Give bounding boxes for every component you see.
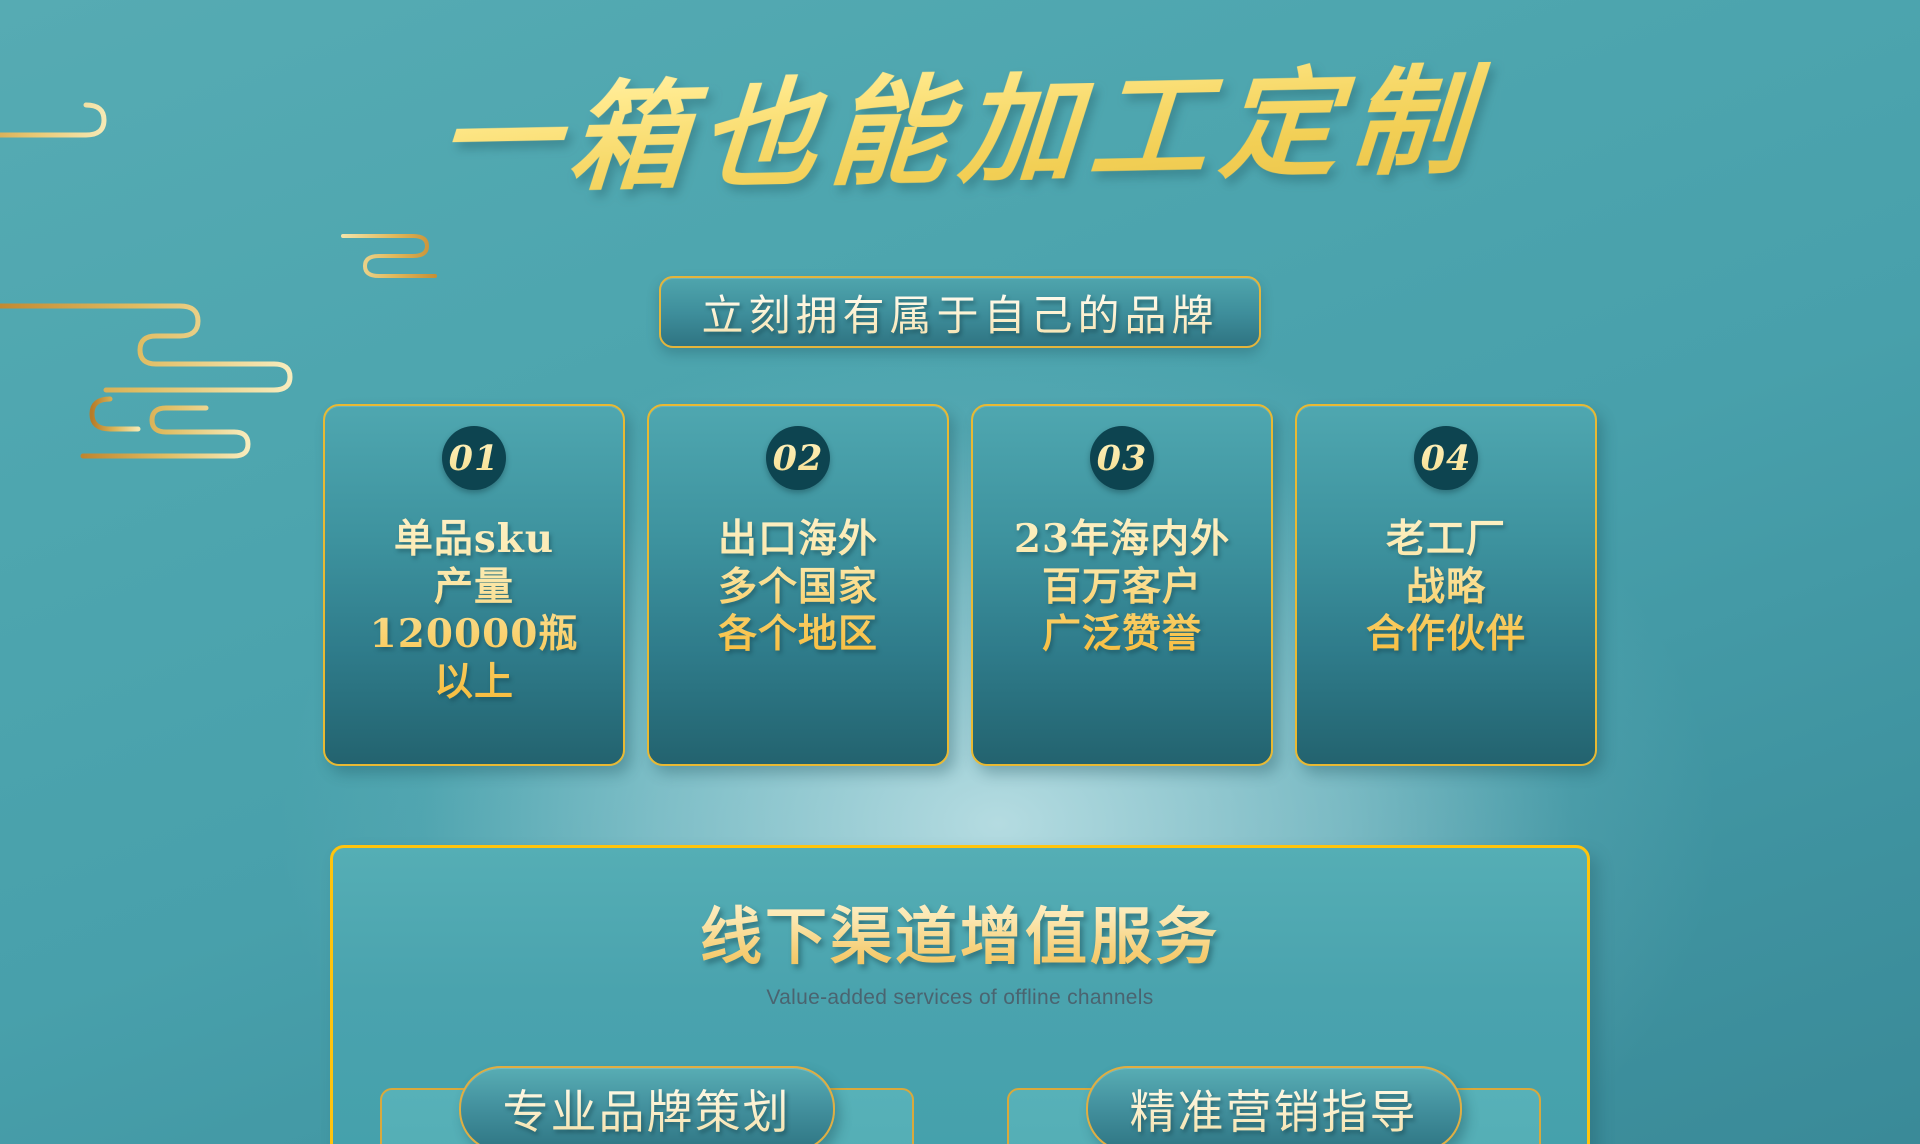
page-title: 一箱也能加工定制 <box>416 48 1504 215</box>
card-line: 多个国家 <box>718 564 878 612</box>
card-text-block: 出口海外 多个国家 各个地区 <box>718 516 878 659</box>
card-line: 老工厂 <box>1366 516 1526 564</box>
service-pill-label: 专业品牌策划 <box>503 1076 791 1142</box>
service-pill-button[interactable]: 专业品牌策划 <box>459 1066 835 1144</box>
panel-heading: 线下渠道增值服务 <box>333 886 1587 976</box>
feature-card[interactable]: 03 23年海内外 百万客户 广泛赞誉 <box>971 404 1273 766</box>
chinese-cloud-icon <box>335 218 505 288</box>
card-line: 23年海内外 <box>1014 516 1230 564</box>
card-text-block: 23年海内外 百万客户 广泛赞誉 <box>1014 516 1230 659</box>
card-line: 合作伙伴 <box>1366 611 1526 659</box>
service-item: 精准营销指导 <box>1009 1066 1539 1144</box>
card-number-badge: 03 <box>1090 426 1154 490</box>
card-line: 百万客户 <box>1014 564 1230 612</box>
feature-card[interactable]: 04 老工厂 战略 合作伙伴 <box>1295 404 1597 766</box>
card-number-badge: 02 <box>766 426 830 490</box>
card-text-block: 老工厂 战略 合作伙伴 <box>1366 516 1526 659</box>
chinese-cloud-icon <box>0 298 308 488</box>
card-number: 01 <box>449 438 500 479</box>
card-number-badge: 01 <box>442 426 506 490</box>
card-line: 单品sku <box>370 516 579 564</box>
card-number-badge: 04 <box>1414 426 1478 490</box>
main-title-block: 一箱也能加工定制 <box>0 58 1920 204</box>
card-line: 各个地区 <box>718 611 878 659</box>
feature-card[interactable]: 01 单品sku 产量 120000瓶 以上 <box>323 404 625 766</box>
card-line: 广泛赞誉 <box>1014 611 1230 659</box>
card-number: 04 <box>1421 438 1472 479</box>
card-text-block: 单品sku 产量 120000瓶 以上 <box>370 516 579 706</box>
service-item-list: 专业品牌策划 精准营销指导 <box>333 1066 1587 1144</box>
card-line: 产量 <box>370 564 579 612</box>
subtitle-banner-label: 立刻拥有属于自己的品牌 <box>701 282 1218 343</box>
card-number: 02 <box>773 438 824 479</box>
card-number: 03 <box>1097 438 1148 479</box>
service-pill-button[interactable]: 精准营销指导 <box>1086 1066 1462 1144</box>
card-line: 出口海外 <box>718 516 878 564</box>
service-item: 专业品牌策划 <box>382 1066 912 1144</box>
card-line: 以上 <box>370 659 579 707</box>
panel-subheading: Value-added services of offline channels <box>333 986 1587 1010</box>
feature-card-list: 01 单品sku 产量 120000瓶 以上 02 出口海外 多个国家 各个地区… <box>323 404 1597 766</box>
promo-banner-page: 一箱也能加工定制 立刻拥有属于自己的品牌 01 单品sku 产量 120000瓶… <box>0 0 1920 1144</box>
service-pill-label: 精准营销指导 <box>1130 1076 1418 1142</box>
offline-services-panel: 线下渠道增值服务 Value-added services of offline… <box>330 845 1590 1144</box>
subtitle-banner[interactable]: 立刻拥有属于自己的品牌 <box>659 276 1261 348</box>
feature-card[interactable]: 02 出口海外 多个国家 各个地区 <box>647 404 949 766</box>
card-line: 120000瓶 <box>370 611 579 659</box>
card-line: 战略 <box>1366 564 1526 612</box>
